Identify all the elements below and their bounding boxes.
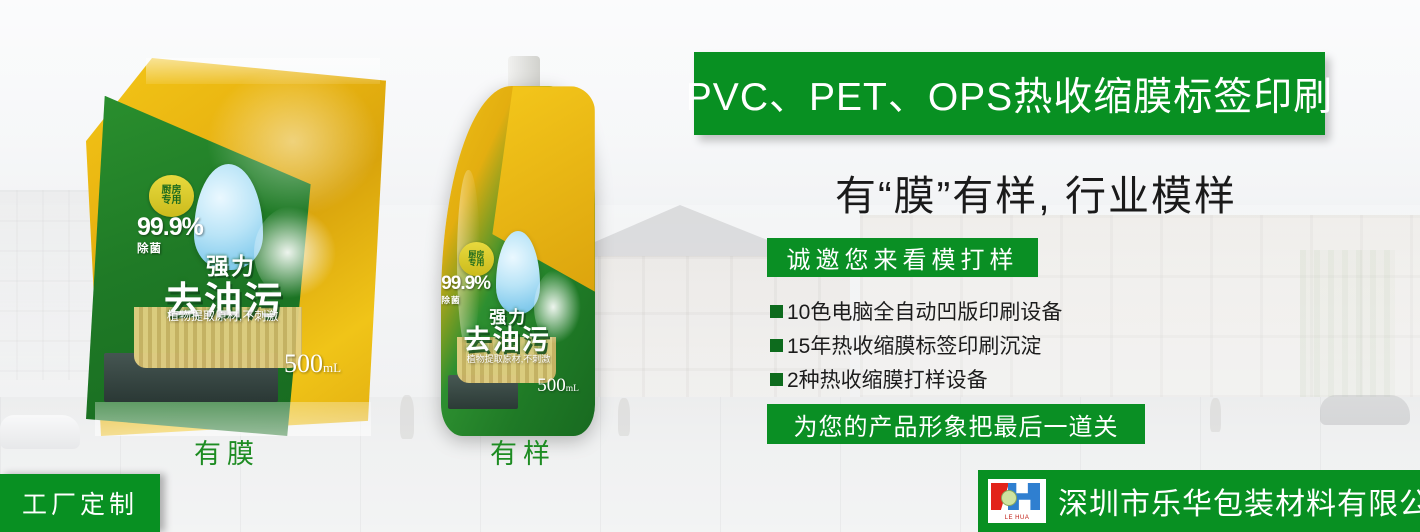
promo-banner: 厨房 专用 99.9% 除菌 强力 去油污 植物提取原材,不刺激 500mL 厨… bbox=[0, 0, 1420, 532]
factory-custom-badge: 工厂定制 bbox=[0, 474, 160, 532]
logo-wordmark: LE HUA bbox=[988, 515, 1046, 521]
pouch-percent-text: 99.9% 除菌 bbox=[137, 213, 203, 256]
caption-right: 有样 bbox=[490, 432, 556, 471]
square-bullet-icon bbox=[770, 339, 783, 352]
invite-banner-text: 诚邀您来看模打样 bbox=[787, 240, 1019, 275]
bottle-volume-number: 500 bbox=[537, 375, 566, 396]
bullet-label: 2种热收缩膜打样设备 bbox=[787, 364, 988, 394]
product-bottle-image: 厨房 专用 99.9% 除菌 强力 去油污 植物提取原材,不刺激 500mL bbox=[438, 56, 598, 436]
bottle-volume-unit: mL bbox=[566, 384, 579, 394]
bottle-volume-text: 500mL bbox=[537, 375, 579, 397]
list-item: 15年热收缩膜标签印刷沉淀 bbox=[770, 330, 1062, 360]
company-footer-bar: LE HUA 深圳市乐华包装材料有限公司 bbox=[978, 470, 1420, 532]
bottle-percent-value: 99.9% bbox=[441, 273, 490, 294]
bottle-percent-text: 99.9% 除菌 bbox=[441, 273, 490, 306]
pouch-kitchen-badge-line2: 专用 bbox=[162, 196, 182, 206]
bottle-subline-text: 植物提取原材,不刺激 bbox=[467, 352, 551, 365]
headline-banner: PVC、PET、OPS热收缩膜标签印刷 bbox=[694, 52, 1325, 135]
list-item: 2种热收缩膜打样设备 bbox=[770, 364, 1062, 394]
list-item: 10色电脑全自动凹版印刷设备 bbox=[770, 296, 1062, 326]
pouch-volume-text: 500mL bbox=[284, 349, 341, 379]
logo-circle-shape bbox=[1001, 490, 1017, 506]
promise-banner-text: 为您的产品形象把最后一道关 bbox=[794, 407, 1119, 442]
bullet-label: 10色电脑全自动凹版印刷设备 bbox=[787, 296, 1062, 326]
invite-banner: 诚邀您来看模打样 bbox=[767, 238, 1038, 277]
factory-custom-badge-text: 工厂定制 bbox=[22, 485, 138, 521]
pouch-percent-sub: 除菌 bbox=[137, 240, 203, 256]
bottle-main-title: 去油污 bbox=[464, 318, 551, 357]
company-logo-icon: LE HUA bbox=[988, 479, 1046, 523]
bottle-kitchen-badge-line2: 专用 bbox=[468, 259, 484, 267]
feature-bullet-list: 10色电脑全自动凹版印刷设备 15年热收缩膜标签印刷沉淀 2种热收缩膜打样设备 bbox=[770, 296, 1062, 398]
subheadline-text: 有“膜”有样, 行业模样 bbox=[786, 162, 1286, 222]
bottle-percent-sub: 除菌 bbox=[441, 293, 490, 306]
pouch-subline-text: 植物提取原材,不刺激 bbox=[167, 307, 278, 324]
pouch-kitchen-badge: 厨房 专用 bbox=[149, 175, 194, 217]
pouch-percent-value: 99.9% bbox=[137, 213, 203, 241]
caption-left: 有膜 bbox=[194, 432, 260, 471]
pouch-top-seal bbox=[146, 58, 380, 84]
square-bullet-icon bbox=[770, 305, 783, 318]
headline-banner-text: PVC、PET、OPS热收缩膜标签印刷 bbox=[686, 66, 1333, 122]
pouch-bottom-seal bbox=[95, 402, 371, 436]
pouch-volume-unit: mL bbox=[323, 360, 341, 375]
pouch-volume-number: 500 bbox=[284, 349, 323, 378]
square-bullet-icon bbox=[770, 373, 783, 386]
company-name-text: 深圳市乐华包装材料有限公司 bbox=[1058, 479, 1420, 523]
product-pouch-image: 厨房 专用 99.9% 除菌 强力 去油污 植物提取原材,不刺激 500mL bbox=[86, 58, 386, 436]
promise-banner: 为您的产品形象把最后一道关 bbox=[767, 404, 1145, 444]
bullet-label: 15年热收缩膜标签印刷沉淀 bbox=[787, 330, 1041, 360]
